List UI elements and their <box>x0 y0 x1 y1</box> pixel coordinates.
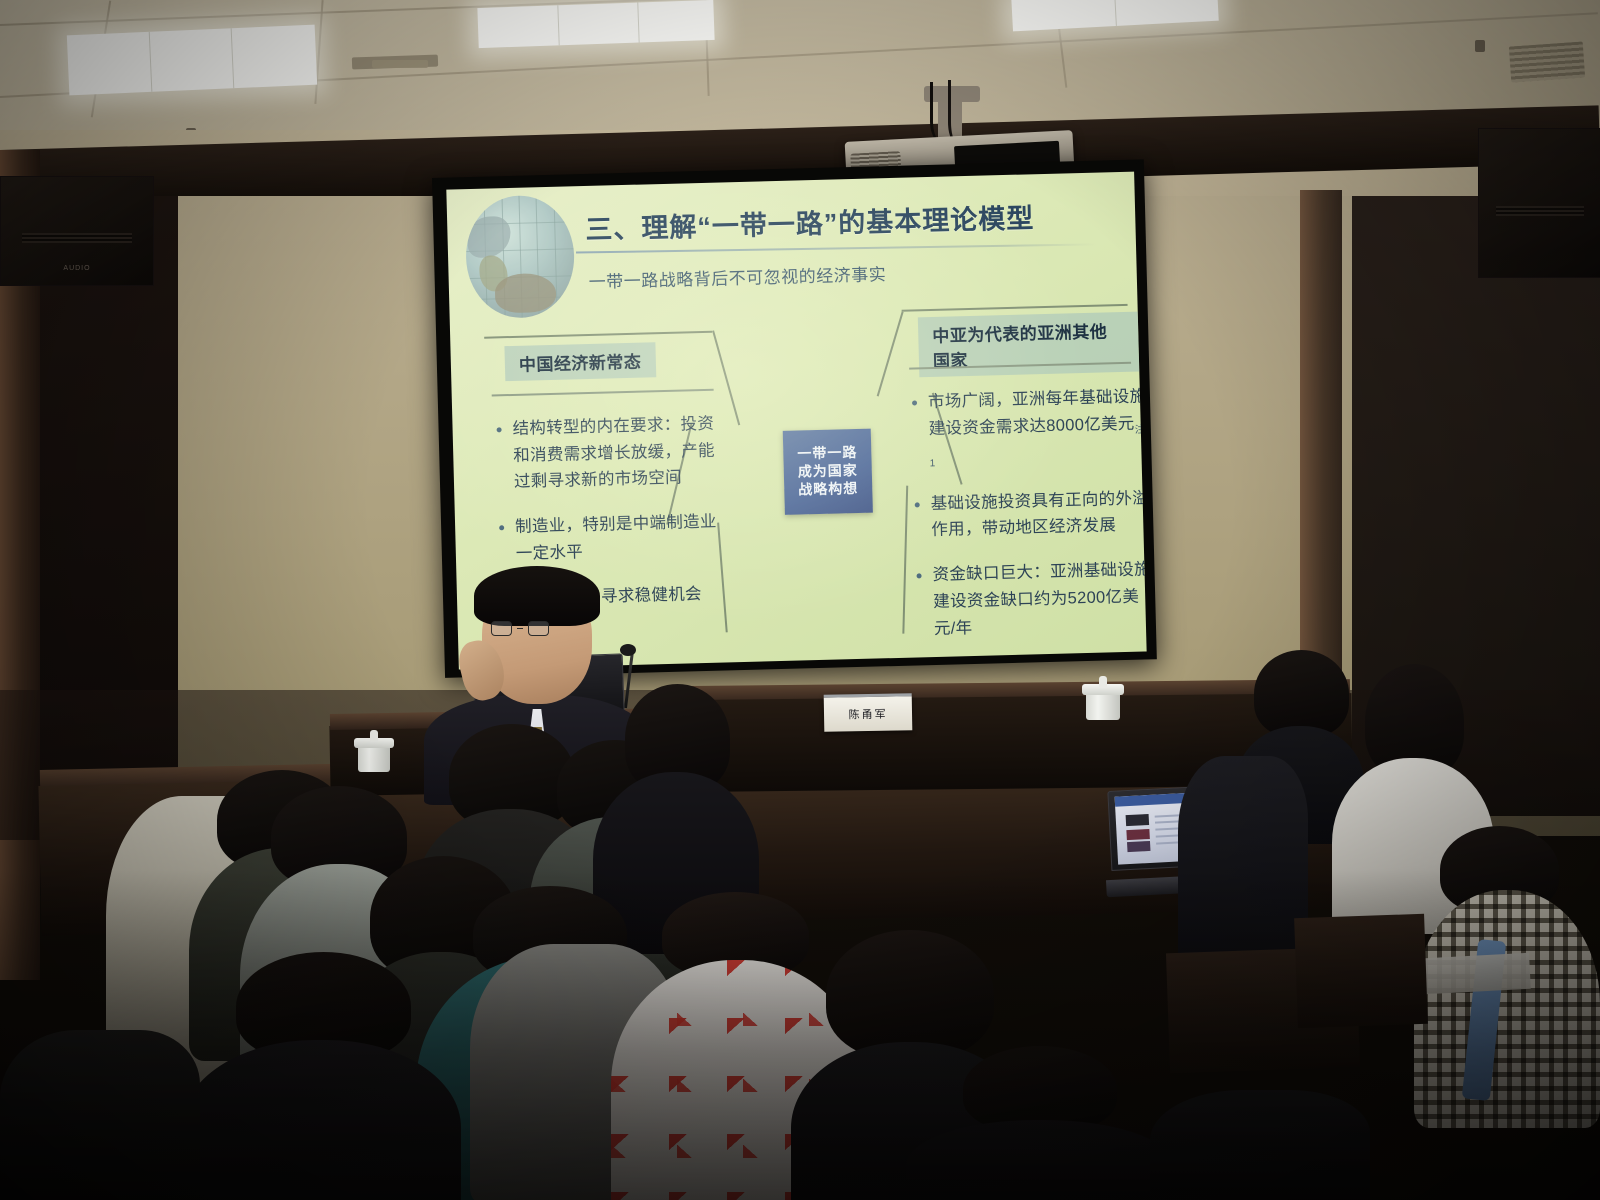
slide-subtitle: 一带一路战略背后不可忽视的经济事实 <box>588 260 886 293</box>
right-column-bullets: 市场广阔，亚洲每年基础设施建设资金需求达8000亿美元注1 基础设施投资具有正向… <box>910 383 1147 660</box>
audience-member <box>1178 756 1308 966</box>
wall-speaker-right <box>1478 128 1600 278</box>
bullet-item: 资金缺口巨大：亚洲基础设施建设资金缺口约为5200亿美元/年 <box>914 556 1146 642</box>
hex-right-edge <box>902 486 907 634</box>
audience-member <box>196 952 446 1200</box>
ceiling-vent-slat <box>372 60 428 68</box>
bullet-item: 制造业，特别是中端制造业一定水平 <box>497 509 726 568</box>
center-box-line3: 战略构想 <box>798 480 858 499</box>
center-box-line2: 成为国家 <box>798 462 858 481</box>
audience-member <box>0 1030 200 1200</box>
ceiling-light-panel <box>67 25 317 96</box>
seat-back <box>1294 914 1428 1028</box>
ceiling-light-panel <box>477 0 714 48</box>
ceiling-vent <box>1509 41 1585 82</box>
podium-cup-right[interactable] <box>1086 676 1120 720</box>
podium-cup-left[interactable] <box>358 730 390 772</box>
eyeglasses-icon <box>491 621 549 636</box>
left-column-divider <box>492 389 714 396</box>
bullet-item: 基础设施投资具有正向的外溢作用，带动地区经济发展 <box>912 485 1146 545</box>
hex-right-edge <box>877 312 903 397</box>
slide-title: 三、理解“一带一路”的基本理论模型 <box>585 196 1035 247</box>
center-concept-box: 一带一路 成为国家 战略构想 <box>783 429 873 515</box>
nameplate-text: 陈甬军 <box>848 706 887 723</box>
left-column-heading: 中国经济新常态 <box>504 342 655 381</box>
globe-icon <box>465 194 576 319</box>
audience-member <box>920 1046 1160 1200</box>
nameplate: 陈甬军 <box>824 693 913 732</box>
hex-left-edge <box>484 331 712 338</box>
bullet-text: 市场广阔，亚洲每年基础设施建设资金需求达8000亿美元 <box>928 387 1147 437</box>
center-box-line1: 一带一路 <box>797 444 857 463</box>
bullet-item: 结构转型的内在要求：投资和消费需求增长放缓，产能过剩寻求新的市场空间 <box>494 410 724 496</box>
audience-member <box>1150 1090 1370 1200</box>
speaker-brand-label: AUDIO <box>1 265 153 272</box>
lecture-hall-photo: AUDIO NEC 三、理解“一带一路”的基本理论模型 一带一路战略背后不可忽视… <box>0 0 1600 1200</box>
bullet-item: 市场广阔，亚洲每年基础设施建设资金需求达8000亿美元注1 <box>910 383 1147 473</box>
sprinkler-icon <box>1475 40 1485 52</box>
wall-speaker-left: AUDIO <box>0 176 154 286</box>
presenter-hair <box>474 566 600 626</box>
hex-right-edge <box>902 304 1128 311</box>
